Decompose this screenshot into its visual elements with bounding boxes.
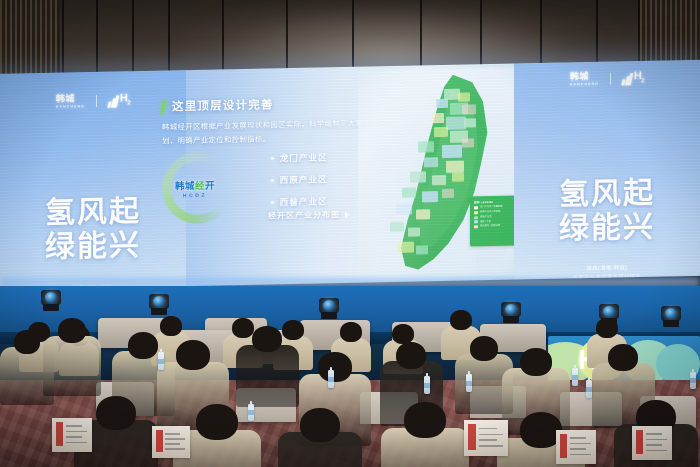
slide-right-panel: 韩城 HANCHENG H2 氢风起 绿能兴 陕西(渭南·韩城) 氢能产业高质量… — [514, 60, 700, 280]
hancheng-logo: 韩城 HANCHENG — [570, 72, 599, 86]
person-head — [318, 352, 352, 382]
person-head — [596, 318, 618, 338]
map-caption: 经开区产业分布图 — [268, 209, 340, 221]
map-parcel — [396, 204, 412, 215]
light-lens — [665, 308, 677, 319]
bottle-label — [466, 381, 472, 386]
booklet-text-line — [479, 445, 503, 447]
booklet-text-line — [646, 444, 662, 446]
person-head — [404, 402, 446, 438]
industrial-zone-map: 图例 LEGEND 龙门产业区 / 装备制造西原产业区 / 新能源西昝产业区道路… — [358, 67, 536, 279]
booklet-text-line — [165, 448, 186, 450]
water-bottle — [572, 368, 578, 386]
bullet-dot-icon — [271, 157, 274, 160]
logo-divider — [610, 73, 611, 85]
zone-label: 西昝产业区 — [280, 195, 328, 208]
light-lens — [153, 296, 165, 307]
map-parcel — [464, 118, 476, 127]
light-base — [43, 304, 59, 311]
water-bottle — [248, 404, 254, 421]
right-title-line2: 绿能兴 — [514, 211, 700, 245]
water-bottle — [328, 370, 334, 388]
person-head — [176, 340, 210, 370]
legend-label: 西原产业区 / 新能源 — [480, 211, 500, 214]
water-bottle — [424, 376, 430, 394]
play-triangle-icon — [345, 211, 350, 217]
booklet-accent — [468, 424, 476, 449]
map-parcel — [432, 113, 444, 123]
booklet-text-line — [66, 431, 88, 433]
hancheng-logo-en: HANCHENG — [570, 82, 599, 86]
right-panel-logos: 韩城 HANCHENG H2 — [514, 70, 700, 88]
booklet-text-line — [165, 443, 180, 445]
person-head — [608, 344, 638, 371]
booklet-text-line — [479, 434, 503, 436]
person-head — [396, 342, 426, 369]
map-parcel — [416, 209, 430, 219]
light-base — [321, 312, 337, 319]
map-parcel — [434, 127, 448, 137]
person-head — [470, 336, 498, 361]
booklet-text-line — [479, 439, 497, 441]
light-base — [663, 320, 679, 327]
map-parcel — [446, 161, 464, 173]
water-bottle — [466, 374, 472, 392]
list-item: 西原产业区 — [271, 173, 328, 186]
hancheng-logo-cn: 韩城 — [570, 71, 589, 81]
map-parcel — [398, 242, 414, 253]
person-head — [252, 326, 282, 352]
logo-divider — [96, 95, 97, 107]
hcdz-logo-en: HCDZ — [175, 193, 215, 200]
booklet-text-line — [646, 439, 668, 441]
legend-swatch — [474, 211, 478, 214]
moving-head-stage-light — [318, 296, 340, 320]
water-bottle — [690, 372, 696, 389]
booklet-text-line — [570, 437, 586, 439]
person-head — [232, 318, 254, 338]
industry-zone-list: 龙门产业区 西原产业区 西昝产业区 — [271, 151, 328, 218]
right-title-line1: 氢风起 — [514, 178, 700, 212]
map-parcel — [416, 245, 428, 254]
moving-head-stage-light — [40, 288, 62, 312]
hancheng-logo-en: HANCHENG — [56, 105, 85, 109]
booklet-text-line — [479, 428, 497, 430]
booklet-text-line — [646, 450, 668, 452]
conference-booklet — [632, 426, 672, 460]
h2-logo: H2 — [622, 71, 644, 85]
bottle-label — [690, 378, 696, 382]
booklet-accent — [560, 434, 567, 458]
conference-booklet — [556, 430, 596, 464]
map-parcel — [432, 175, 446, 185]
person-head — [14, 330, 40, 354]
legend-label: 龙门产业区 / 装备制造 — [480, 206, 503, 209]
h2-logo-bar — [114, 95, 119, 107]
person-head — [282, 320, 304, 340]
light-lens — [505, 304, 517, 315]
booklet-accent — [156, 430, 163, 452]
person-head — [160, 316, 182, 336]
moving-head-stage-light — [660, 304, 682, 328]
map-parcel — [442, 145, 462, 158]
person-head — [58, 318, 86, 343]
light-lens — [603, 306, 615, 317]
booklet-text-line — [165, 433, 180, 435]
map-parcel — [458, 92, 470, 101]
booklet-text-line — [165, 438, 186, 440]
map-parcel — [462, 104, 476, 114]
person-head — [128, 332, 158, 359]
legend-label: 规划用地 / 控制边界 — [480, 225, 500, 228]
slide-center-panel: 这里顶层设计完善 韩城经开区根据产业发展现状和园区实际，科学编制三大集中区控制规… — [148, 63, 528, 287]
map-parcel — [390, 222, 404, 232]
booklet-text-line — [570, 443, 592, 445]
person-head — [300, 408, 340, 442]
hcdz-logo: 韩城经开 HCDZ — [175, 178, 215, 200]
led-screen: 韩城 HANCHENG H2 氢风起 绿能兴 陕西(渭南·韩城) 氢能产业高质量… — [0, 60, 700, 290]
legend-swatch — [474, 225, 478, 228]
booklet-text-line — [66, 425, 82, 427]
person-head — [96, 396, 136, 430]
map-parcel — [418, 141, 434, 152]
map-parcel — [424, 157, 438, 167]
bottle-label — [586, 387, 592, 392]
legend-label: 西昝产业区 — [480, 216, 492, 219]
hancheng-logo-cn: 韩城 — [56, 93, 75, 103]
map-parcel — [442, 189, 454, 198]
right-panel-title: 氢风起 绿能兴 — [514, 178, 700, 246]
hancheng-logo: 韩城 HANCHENG — [56, 94, 85, 108]
slide-heading: 这里顶层设计完善 — [172, 96, 274, 114]
person-head — [450, 310, 472, 330]
booklet-text-line — [66, 442, 88, 444]
legend-label: 道路 / 水系 — [480, 221, 491, 224]
person-torso — [236, 345, 299, 407]
booklet-text-line — [646, 433, 662, 435]
legend-swatch — [474, 221, 478, 224]
person-torso — [43, 336, 102, 396]
map-parcel — [402, 188, 416, 198]
booklet-text-line — [66, 436, 82, 438]
person-head — [340, 322, 362, 342]
booklet-accent — [636, 430, 643, 454]
water-bottle — [586, 380, 592, 398]
bullet-dot-icon — [271, 179, 274, 182]
map-parcel — [452, 173, 464, 182]
bottle-label — [158, 359, 164, 364]
map-parcel — [408, 227, 420, 236]
water-bottle — [158, 352, 164, 370]
list-item: 西昝产业区 — [271, 195, 328, 208]
bullet-dot-icon — [271, 201, 274, 204]
map-parcel — [462, 138, 474, 147]
slide-heading-row: 这里顶层设计完善 — [162, 96, 274, 114]
h2-logo-text: H2 — [634, 71, 644, 84]
legend-swatch — [474, 216, 478, 219]
light-lens — [323, 300, 335, 311]
light-base — [503, 316, 519, 323]
conference-booklet — [152, 426, 190, 458]
map-parcel — [436, 99, 448, 108]
light-lens — [45, 292, 57, 303]
light-base — [151, 308, 167, 315]
h2-logo-text: H2 — [120, 94, 130, 107]
h2-logo-bar — [628, 73, 633, 85]
conference-booklet — [464, 420, 508, 456]
booklet-text-line — [570, 454, 592, 456]
person-head — [520, 348, 552, 376]
person-head — [196, 404, 238, 440]
bottle-label — [424, 383, 430, 388]
map-parcel — [422, 191, 438, 202]
person-head — [392, 324, 414, 344]
list-item: 龙门产业区 — [271, 151, 328, 164]
hcdz-logo-cn: 韩城经开 — [175, 178, 215, 193]
moving-head-stage-light — [148, 292, 170, 316]
zone-label: 龙门产业区 — [280, 151, 328, 164]
map-caption-row: 经开区产业分布图 — [268, 209, 350, 222]
legend-swatch — [474, 206, 478, 209]
booklet-accent — [56, 422, 63, 446]
conference-hall-photo: 韩城 HANCHENG H2 氢风起 绿能兴 陕西(渭南·韩城) 氢能产业高质量… — [0, 0, 700, 467]
map-parcel — [446, 117, 466, 130]
moving-head-stage-light — [500, 300, 522, 324]
zone-label: 西原产业区 — [280, 173, 328, 186]
heading-accent-bar-icon — [160, 100, 166, 113]
bottle-label — [248, 410, 254, 414]
map-parcel — [410, 171, 426, 182]
bottle-label — [328, 377, 334, 382]
conference-booklet — [52, 418, 92, 452]
h2-logo: H2 — [108, 94, 130, 108]
booklet-text-line — [570, 448, 586, 450]
bottle-label — [572, 375, 578, 380]
